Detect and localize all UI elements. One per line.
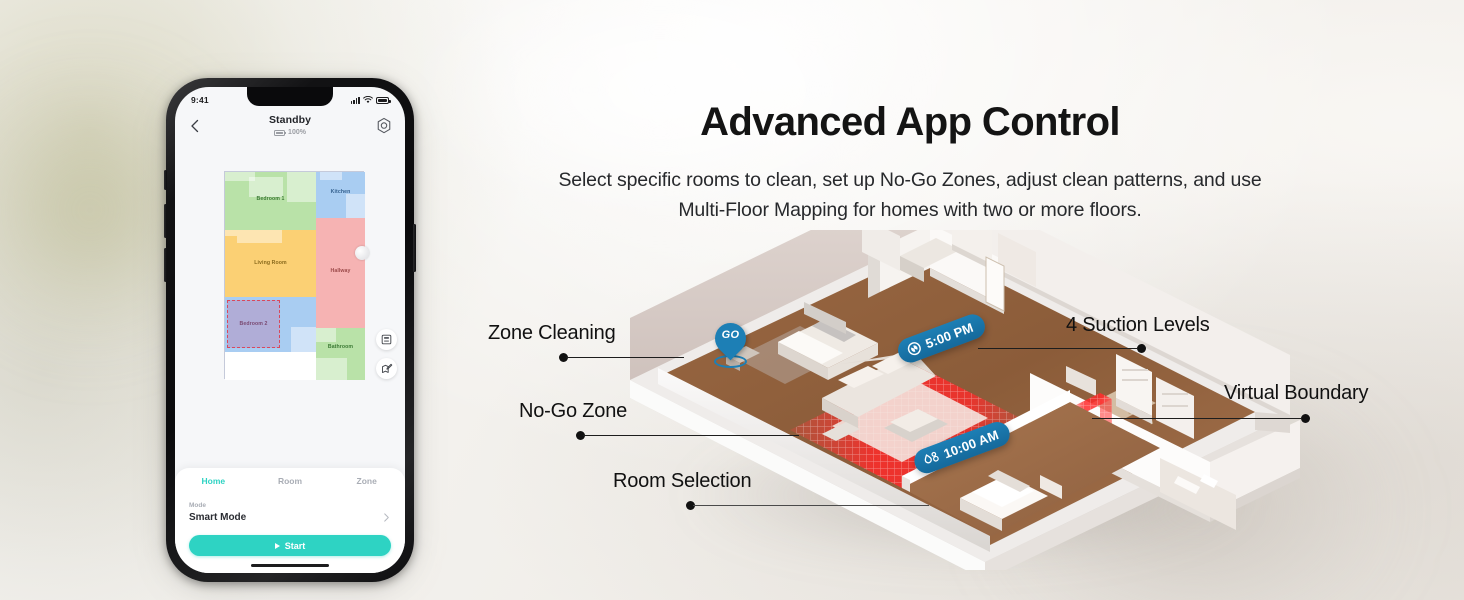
start-button[interactable]: Start xyxy=(189,535,391,556)
map-room-hallway[interactable]: Hallway xyxy=(316,218,365,328)
start-button-label: Start xyxy=(285,541,306,551)
floor-map-icon xyxy=(381,334,392,345)
charging-dock-icon xyxy=(355,246,369,260)
callout-label: 4 Suction Levels xyxy=(1066,314,1210,337)
vacuum-cycle-icon xyxy=(905,339,924,358)
phone-volume-up-button[interactable] xyxy=(164,204,167,238)
map-room-label: Bedroom 1 xyxy=(225,196,316,202)
edit-map-button[interactable] xyxy=(376,358,397,379)
edit-map-icon xyxy=(381,363,393,375)
phone-mockup: 9:41 Standby xyxy=(166,78,414,582)
map-room-label: Kitchen xyxy=(316,189,365,195)
phone-notch xyxy=(247,87,333,106)
map-tools xyxy=(376,329,397,379)
play-icon xyxy=(275,543,280,549)
map-nogo-zone[interactable]: Bedroom 2 xyxy=(227,300,280,348)
callout-label: No-Go Zone xyxy=(519,400,627,423)
callout-label: Room Selection xyxy=(613,470,751,493)
page-title: Standby xyxy=(189,114,391,126)
map-room-bathroom[interactable]: Bathroom xyxy=(316,328,365,380)
callout-line xyxy=(1092,418,1302,419)
floor-map[interactable]: Bedroom 1 Kitchen Living Room xyxy=(224,171,364,379)
outer-wall-right-end xyxy=(1255,412,1290,433)
map-area[interactable]: Bedroom 1 Kitchen Living Room xyxy=(175,149,405,468)
tab-home[interactable]: Home xyxy=(175,468,252,494)
map-room-label: Bathroom xyxy=(316,344,365,350)
map-room-label: Hallway xyxy=(316,268,365,274)
multi-floor-button[interactable] xyxy=(376,329,397,350)
callout-line xyxy=(566,357,684,358)
go-pin-label: GO xyxy=(712,329,749,341)
page-subcopy: Select specific rooms to clean, set up N… xyxy=(470,165,1350,225)
map-empty-area xyxy=(225,352,316,380)
mode-label: Mode xyxy=(189,502,391,509)
map-room-label: Bedroom 2 xyxy=(228,321,279,327)
callout-line xyxy=(693,505,929,506)
go-pin-marker[interactable]: GO xyxy=(712,323,748,371)
battery-full-icon xyxy=(376,97,389,104)
battery-percent-label: 100% xyxy=(288,129,306,136)
callout-line xyxy=(978,348,1138,349)
phone-screen: 9:41 Standby xyxy=(175,87,405,573)
bottom-sheet: Home Room Zone Mode Smart Mode Start xyxy=(175,468,405,573)
callout-dot xyxy=(1301,414,1310,423)
chevron-left-icon[interactable] xyxy=(188,119,202,133)
page-headline: Advanced App Control xyxy=(470,100,1350,145)
mop-water-icon xyxy=(921,449,942,469)
callout-label: Zone Cleaning xyxy=(488,322,616,345)
map-room-bedroom-1[interactable]: Bedroom 1 xyxy=(225,172,316,230)
mode-value: Smart Mode xyxy=(189,512,391,523)
subcopy-line-2: Multi-Floor Mapping for homes with two o… xyxy=(678,199,1141,221)
map-room-label: Living Room xyxy=(225,260,316,266)
navbar-center: Standby 100% xyxy=(189,113,391,136)
phone-mute-switch[interactable] xyxy=(164,170,167,190)
phone-power-button[interactable] xyxy=(413,224,416,272)
phone-volume-down-button[interactable] xyxy=(164,248,167,282)
tab-bar: Home Room Zone xyxy=(175,468,405,494)
phone-frame: 9:41 Standby xyxy=(166,78,414,582)
battery-status: 100% xyxy=(189,129,391,136)
map-room-living-room[interactable]: Living Room xyxy=(225,230,316,297)
wifi-icon xyxy=(363,96,373,104)
door-panel xyxy=(986,257,1004,311)
gear-icon[interactable] xyxy=(375,117,393,135)
mode-selector-row[interactable]: Mode Smart Mode xyxy=(175,494,405,523)
subcopy-line-1: Select specific rooms to clean, set up N… xyxy=(558,169,1261,191)
status-indicators xyxy=(351,96,389,104)
chevron-right-icon xyxy=(382,513,391,522)
tab-zone[interactable]: Zone xyxy=(328,468,405,494)
home-indicator[interactable] xyxy=(251,564,329,567)
app-navbar: Standby 100% xyxy=(175,113,405,149)
cellular-bars-icon xyxy=(351,97,360,104)
callout-label: Virtual Boundary xyxy=(1224,382,1368,405)
tab-room[interactable]: Room xyxy=(252,468,329,494)
map-room-kitchen[interactable]: Kitchen xyxy=(316,172,365,218)
status-time: 9:41 xyxy=(191,95,209,105)
callout-line xyxy=(583,435,799,436)
battery-icon xyxy=(274,130,285,136)
callout-dot xyxy=(1137,344,1146,353)
